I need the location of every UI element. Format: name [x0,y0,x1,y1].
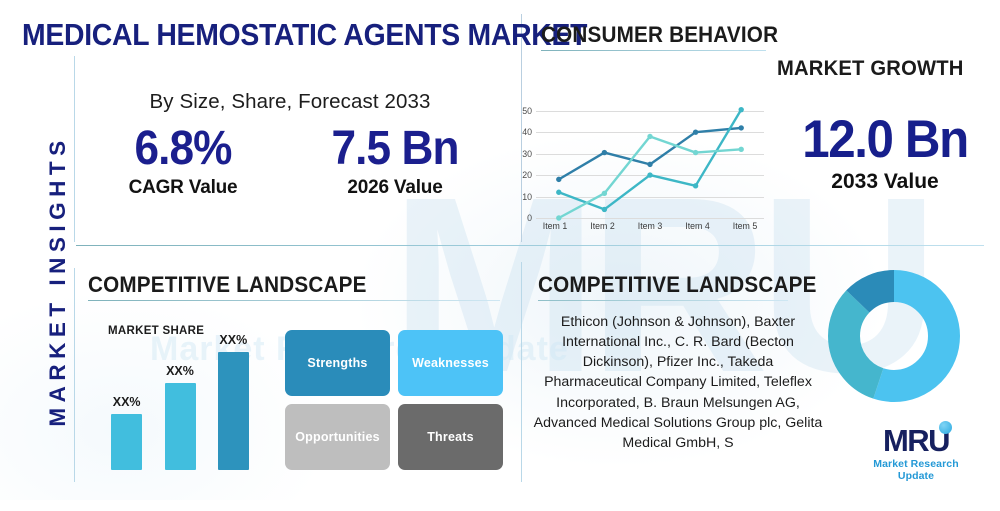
stat-2033-caption: 2033 Value [770,170,1000,194]
company-list: Ethicon (Johnson & Johnson), Baxter Inte… [533,312,823,453]
stat-cagr-caption: CAGR Value [88,177,278,199]
line-chart-y-tick: 50 [522,106,532,116]
stat-cagr: 6.8% CAGR Value [88,125,278,199]
bar-chart-market-share: XX%XX%XX% [100,330,260,470]
line-chart-x-tick: Item 1 [536,221,574,231]
section-heading-competitive-landscape-left: COMPETITIVE LANDSCAPE [88,272,367,298]
line-chart-y-tick: 30 [522,149,532,159]
line-chart-point [647,134,652,139]
line-chart-series [559,110,741,210]
bar-chart-value-label: XX% [208,333,258,347]
line-chart-point [693,183,698,188]
section-heading-competitive-landscape-right: COMPETITIVE LANDSCAPE [538,272,817,298]
bar-chart-bar [165,383,196,470]
brand-logo-mark: MRU [883,425,949,456]
line-chart-point [602,150,607,155]
line-chart-x-tick: Item 4 [679,221,717,231]
donut-chart [824,266,964,406]
line-chart-x-tick: Item 5 [726,221,764,231]
page-title: MEDICAL HEMOSTATIC AGENTS MARKET [22,18,478,53]
stat-2033-value: 12.0 Bn [778,112,992,168]
section-rule-consumer-behavior [541,50,766,51]
brand-logo-dot-icon [939,421,952,434]
line-chart-point [693,129,698,134]
line-chart-x-tick: Item 2 [584,221,622,231]
section-rule-competitive-landscape-left [88,300,500,301]
stat-2026-caption: 2026 Value [300,177,490,199]
line-chart-point [556,177,561,182]
swot-cell-strengths[interactable]: Strengths [285,330,390,396]
line-chart-point [739,125,744,130]
divider-vertical-left-bottom [74,268,75,482]
line-chart-point [693,150,698,155]
swot-cell-opportunities[interactable]: Opportunities [285,404,390,470]
brand-logo: MRU Market Research Update [856,425,976,482]
bar-chart-bar [111,414,142,470]
line-chart-y-tick: 10 [522,192,532,202]
line-chart-x-axis: Item 1Item 2Item 3Item 4Item 5 [536,218,764,231]
swot-cell-weaknesses[interactable]: Weaknesses [398,330,503,396]
divider-vertical-center-bottom [521,262,522,482]
line-chart-point [739,107,744,112]
swot-cell-threats[interactable]: Threats [398,404,503,470]
stat-2033: 12.0 Bn 2033 Value [770,112,1000,194]
line-chart-point [556,190,561,195]
line-chart-x-tick: Item 3 [631,221,669,231]
line-chart-plot [536,100,764,218]
subtitle: By Size, Share, Forecast 2033 [90,90,490,114]
line-chart-point [739,147,744,152]
line-chart-y-tick: 20 [522,170,532,180]
line-chart-point [647,172,652,177]
bar-chart-bar [218,352,249,470]
section-heading-market-growth: MARKET GROWTH [777,56,964,81]
sidebar-label-market-insights: MARKET INSIGHTS [45,51,71,511]
line-chart-y-tick: 40 [522,127,532,137]
line-chart-point [647,162,652,167]
line-chart-point [602,191,607,196]
brand-logo-subtitle: Market Research Update [856,458,976,482]
line-chart-point [602,207,607,212]
stat-2026: 7.5 Bn 2026 Value [300,125,490,199]
swot-matrix: Strengths Weaknesses Opportunities Threa… [285,330,503,470]
line-chart-consumer-behavior: 01020304050 Item 1Item 2Item 3Item 4Item… [536,100,764,218]
bar-chart-value-label: XX% [155,364,205,378]
stat-2026-value: 7.5 Bn [308,125,483,174]
section-heading-consumer-behavior: CONSUMER BEHAVIOR [541,22,778,48]
section-rule-competitive-landscape-right [538,300,788,301]
stat-cagr-value: 6.8% [96,125,271,174]
line-chart-y-tick: 0 [527,213,532,223]
divider-vertical-left-top [74,56,75,242]
divider-horizontal [76,245,984,246]
bar-chart-value-label: XX% [102,395,152,409]
